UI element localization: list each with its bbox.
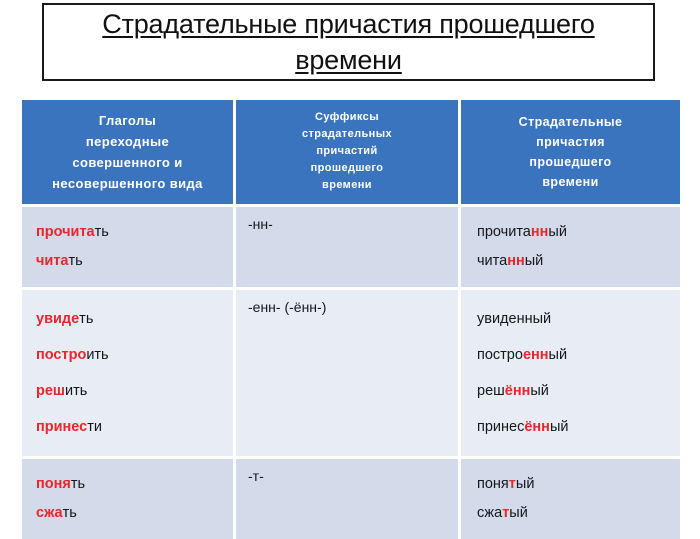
participle-suffix: ённ bbox=[505, 383, 531, 399]
table-row: прочитатьчитать-нн-прочитанныйчитанный bbox=[22, 207, 680, 290]
participle-suffix: нн bbox=[531, 224, 549, 240]
participle-item: сжатый bbox=[477, 499, 680, 528]
table-header: Глаголыпереходныесовершенного инесоверше… bbox=[22, 100, 680, 207]
column-header-line: времени bbox=[467, 172, 674, 192]
table-row: понятьсжать-т-понятыйсжатый bbox=[22, 459, 680, 539]
participle-suffix: нн bbox=[507, 253, 525, 269]
table-row: увидетьпостроитьрешитьпринести-енн- (-ён… bbox=[22, 290, 680, 459]
suffix-cell: -нн- bbox=[236, 207, 461, 290]
participle-item: построенный bbox=[477, 337, 680, 373]
participles-cell: прочитанныйчитанный bbox=[461, 207, 680, 290]
verb-ending: ть bbox=[71, 476, 85, 492]
suffix-text: -нн- bbox=[248, 216, 458, 232]
column-header-line: Страдательные bbox=[467, 112, 674, 132]
participle-stem: постро bbox=[477, 347, 523, 363]
participle-item: понятый bbox=[477, 470, 680, 499]
participle-stem: чита bbox=[477, 253, 507, 269]
verb-item: принести bbox=[36, 409, 233, 445]
verb-stem: реш bbox=[36, 383, 65, 399]
participles-cell: понятыйсжатый bbox=[461, 459, 680, 539]
verb-ending: ти bbox=[87, 419, 102, 435]
verb-ending: ть bbox=[63, 505, 77, 521]
verb-stem: поня bbox=[36, 476, 71, 492]
verb-ending: ть bbox=[79, 311, 93, 327]
participle-item: принесённый bbox=[477, 409, 680, 445]
column-header-line: времени bbox=[242, 177, 452, 194]
participle-ending: ый bbox=[550, 419, 569, 435]
verbs-cell: увидетьпостроитьрешитьпринести bbox=[22, 290, 236, 459]
column-header-line: прошедшего bbox=[242, 160, 452, 177]
verb-item: прочитать bbox=[36, 218, 233, 247]
verb-stem: прочита bbox=[36, 224, 95, 240]
column-header-verbs: Глаголыпереходныесовершенного инесоверше… bbox=[22, 100, 236, 207]
participle-suffix: ённ bbox=[524, 419, 550, 435]
page-title: Страдательные причастия прошедшего време… bbox=[44, 6, 653, 78]
verb-item: сжать bbox=[36, 499, 233, 528]
participle-item: прочитанный bbox=[477, 218, 680, 247]
suffix-text: -енн- (-ённ-) bbox=[248, 299, 458, 315]
column-header-line: причастия bbox=[467, 132, 674, 152]
column-header-line: Суффиксы bbox=[242, 109, 452, 126]
participle-ending: ый bbox=[530, 383, 549, 399]
verb-item: построить bbox=[36, 337, 233, 373]
column-header-line: Глаголы bbox=[28, 110, 227, 131]
participle-ending: ый bbox=[525, 253, 544, 269]
column-header-suffixes: Суффиксыстрадательныхпричастийпрошедшего… bbox=[236, 100, 461, 207]
suffix-text: -т- bbox=[248, 468, 458, 484]
verb-item: читать bbox=[36, 247, 233, 276]
participle-ending: ый bbox=[549, 347, 568, 363]
verb-ending: ить bbox=[86, 347, 108, 363]
verb-ending: ть bbox=[69, 253, 83, 269]
participle-item: читанный bbox=[477, 247, 680, 276]
verb-item: понять bbox=[36, 470, 233, 499]
verbs-cell: прочитатьчитать bbox=[22, 207, 236, 290]
verb-item: решить bbox=[36, 373, 233, 409]
verb-ending: ить bbox=[65, 383, 87, 399]
column-header-line: несовершенного вида bbox=[28, 173, 227, 194]
participle-suffix: т bbox=[509, 476, 516, 492]
participle-item: увиденный bbox=[477, 301, 680, 337]
participle-stem: сжа bbox=[477, 505, 502, 521]
participle-ending: ый bbox=[509, 505, 528, 521]
verbs-cell: понятьсжать bbox=[22, 459, 236, 539]
verb-stem: принес bbox=[36, 419, 87, 435]
column-header-line: причастий bbox=[242, 143, 452, 160]
verb-ending: ть bbox=[95, 224, 109, 240]
column-header-participles: Страдательныепричастияпрошедшеговремени bbox=[461, 100, 680, 207]
verb-stem: увиде bbox=[36, 311, 79, 327]
column-header-line: страдательных bbox=[242, 126, 452, 143]
verb-stem: чита bbox=[36, 253, 69, 269]
table-body: прочитатьчитать-нн-прочитанныйчитанныйув… bbox=[22, 207, 680, 539]
participle-item: решённый bbox=[477, 373, 680, 409]
participle-stem: реш bbox=[477, 383, 505, 399]
column-header-line: прошедшего bbox=[467, 152, 674, 172]
participle-ending: ый bbox=[516, 476, 535, 492]
participle-stem: прочита bbox=[477, 224, 531, 240]
participle-stem: увиденный bbox=[477, 311, 551, 327]
participle-stem: принес bbox=[477, 419, 524, 435]
title-box: Страдательные причастия прошедшего време… bbox=[42, 3, 655, 81]
verb-stem: постро bbox=[36, 347, 86, 363]
table-header-row: Глаголыпереходныесовершенного инесоверше… bbox=[22, 100, 680, 207]
participle-suffix: енн bbox=[523, 347, 549, 363]
verb-item: увидеть bbox=[36, 301, 233, 337]
suffix-cell: -т- bbox=[236, 459, 461, 539]
column-header-line: переходные bbox=[28, 131, 227, 152]
participles-table: Глаголыпереходныесовершенного инесоверше… bbox=[22, 100, 680, 539]
participles-cell: увиденныйпостроенныйрешённыйпринесённый bbox=[461, 290, 680, 459]
participle-stem: поня bbox=[477, 476, 509, 492]
column-header-line: совершенного и bbox=[28, 152, 227, 173]
suffix-cell: -енн- (-ённ-) bbox=[236, 290, 461, 459]
participle-ending: ый bbox=[548, 224, 567, 240]
verb-stem: сжа bbox=[36, 505, 63, 521]
